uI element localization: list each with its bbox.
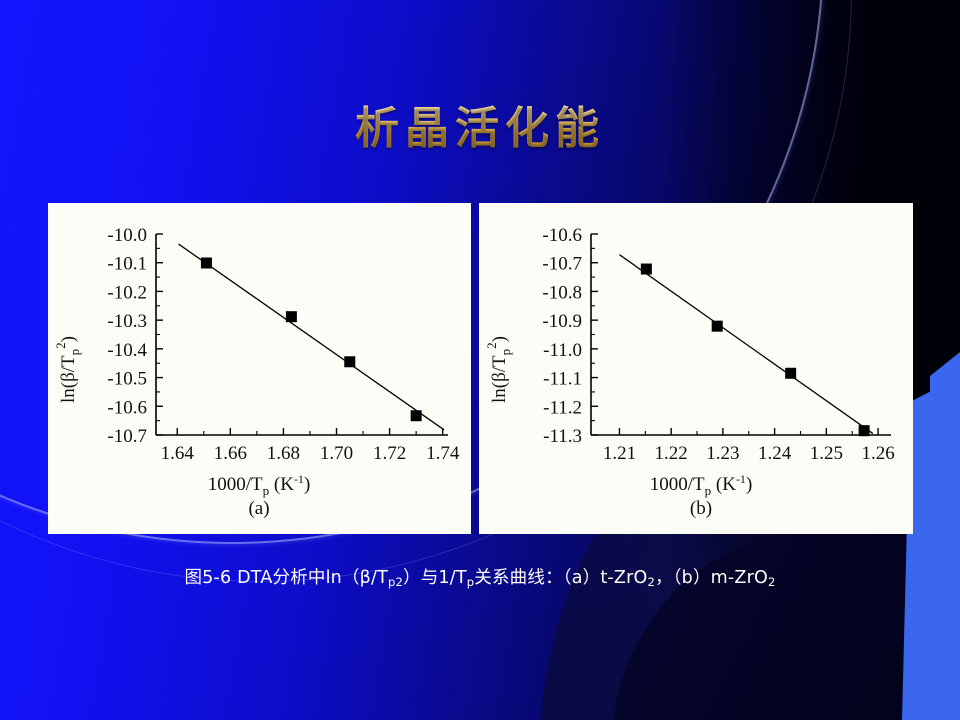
- b-xtick-label: 1.21: [603, 443, 636, 464]
- chart-b-xlabel-sup: -1: [736, 472, 746, 486]
- b-ytick-label: -11.2: [543, 397, 582, 418]
- chart-b-x-ticks: [619, 428, 878, 435]
- chart-b-xlabel-main: 1000/T: [650, 474, 705, 495]
- background-light-blue-wedge-edge: [930, 352, 960, 720]
- chart-b-y-tick-labels: -10.6-10.7-10.8-10.9-11.0-11.1-11.2-11.3: [542, 225, 582, 447]
- a-xtick-label: 1.70: [320, 443, 353, 464]
- b-xtick-label: 1.25: [810, 443, 843, 464]
- a-ytick-label: -10.4: [107, 340, 147, 361]
- b-ytick-label: -11.1: [543, 369, 582, 390]
- caption-sub-3: 2: [647, 575, 655, 589]
- chart-b-ylabel-sub: p: [498, 349, 513, 356]
- chart-b-x-tick-labels: 1.211.221.231.241.251.26: [603, 443, 895, 464]
- b-xtick-label: 1.24: [758, 443, 792, 464]
- chart-b-ylabel-main: ln(β/T: [489, 355, 510, 403]
- a-xtick-label: 1.66: [214, 443, 247, 464]
- chart-a-x-axis-title: 1000/Tp (K-1): [208, 472, 311, 498]
- a-xtick-label: 1.68: [267, 443, 300, 464]
- b-xtick-label: 1.23: [706, 443, 739, 464]
- chart-a-x-ticks: [177, 428, 442, 435]
- chart-b-x-axis-title: 1000/Tp (K-1): [650, 472, 753, 498]
- caption-mid: ）与1/T: [403, 568, 467, 588]
- b-ytick-label: -11.3: [543, 426, 582, 447]
- chart-a-ylabel-sub: p: [67, 349, 82, 356]
- b-ytick-label: -10.8: [542, 282, 582, 303]
- b-ytick-label: -11.0: [543, 340, 582, 361]
- a-ytick-label: -10.5: [107, 369, 147, 390]
- chart-a-xlabel-main: 1000/T: [208, 474, 263, 495]
- chart-a-axes: [156, 234, 448, 435]
- b-data-point: [712, 321, 723, 332]
- chart-a-xlabel-sup: -1: [294, 472, 304, 486]
- chart-a-y-tick-labels: -10.0-10.1-10.2-10.3-10.4-10.5-10.6-10.7: [107, 225, 147, 447]
- chart-a-y-axis-title: ln(β/Tp2): [53, 336, 82, 403]
- chart-b-xlabel-unit-open: (K: [711, 474, 736, 495]
- b-data-point: [785, 368, 796, 379]
- a-ytick-label: -10.6: [107, 397, 147, 418]
- chart-a-x-tick-labels: 1.641.661.681.701.721.74: [161, 443, 460, 464]
- a-ytick-label: -10.3: [107, 311, 147, 332]
- caption-mid-3: ，（b）m-ZrO: [655, 568, 768, 588]
- a-ytick-label: -10.0: [107, 225, 147, 246]
- chart-a-fit-line: [179, 244, 444, 430]
- b-xtick-label: 1.26: [861, 443, 894, 464]
- chart-a-data-points: [201, 258, 422, 422]
- slide-title: 析晶活化能: [0, 92, 960, 156]
- b-data-point: [859, 425, 870, 436]
- b-ytick-label: -10.7: [542, 254, 582, 275]
- a-data-point: [344, 356, 355, 367]
- a-ytick-label: -10.2: [107, 282, 147, 303]
- chart-panel-b: 1.211.221.231.241.251.26 -10.6-10.7-10.8…: [479, 203, 913, 534]
- a-xtick-label: 1.74: [426, 443, 460, 464]
- svg-text:ln(β/Tp2): ln(β/Tp2): [484, 336, 513, 403]
- chart-a-panel-caption: (a): [248, 498, 269, 519]
- chart-a-ylabel-main: ln(β/T: [58, 355, 79, 403]
- b-xtick-label: 1.22: [655, 443, 688, 464]
- svg-text:ln(β/Tp2): ln(β/Tp2): [53, 336, 82, 403]
- b-data-point: [641, 264, 652, 275]
- chart-a-xlabel-unit-close: ): [304, 474, 310, 495]
- caption-sub-1: p2: [388, 575, 403, 589]
- a-data-point: [286, 311, 297, 322]
- chart-panel-a: 1.641.661.681.701.721.74 -10.0-10.1-10.2…: [48, 203, 471, 534]
- slide-canvas: 析晶活化能 1.641.661.681.701.721.74 -10.0-10.…: [0, 0, 960, 720]
- chart-a-svg: 1.641.661.681.701.721.74 -10.0-10.1-10.2…: [48, 203, 471, 534]
- chart-b-fit-line: [619, 255, 872, 434]
- caption-sub-4: 2: [768, 575, 776, 589]
- a-xtick-label: 1.72: [373, 443, 406, 464]
- chart-b-axes: [591, 234, 891, 435]
- figure-caption: 图5-6 DTA分析中ln（β/Tp2）与1/Tp关系曲线：（a）t-ZrO2，…: [40, 564, 920, 589]
- chart-b-ylabel-close: ): [489, 336, 510, 342]
- chart-b-xlabel-unit-close: ): [746, 474, 752, 495]
- a-data-point: [201, 258, 212, 269]
- caption-mid-2: 关系曲线：（a）t-ZrO: [474, 568, 647, 588]
- a-ytick-label: -10.1: [107, 254, 147, 275]
- chart-b-svg: 1.211.221.231.241.251.26 -10.6-10.7-10.8…: [479, 203, 913, 534]
- chart-a-ylabel-close: ): [58, 336, 79, 342]
- b-ytick-label: -10.9: [542, 311, 582, 332]
- a-ytick-label: -10.7: [107, 426, 147, 447]
- b-ytick-label: -10.6: [542, 225, 582, 246]
- a-data-point: [411, 410, 422, 421]
- chart-a-y-ticks: [156, 234, 163, 435]
- chart-a-xlabel-unit-open: (K: [269, 474, 294, 495]
- chart-b-y-ticks: [591, 234, 598, 435]
- a-xtick-label: 1.64: [161, 443, 195, 464]
- chart-b-y-axis-title: ln(β/Tp2): [484, 336, 513, 403]
- chart-b-panel-caption: (b): [690, 498, 712, 519]
- caption-prefix: 图5-6 DTA分析中ln（β/T: [184, 568, 388, 588]
